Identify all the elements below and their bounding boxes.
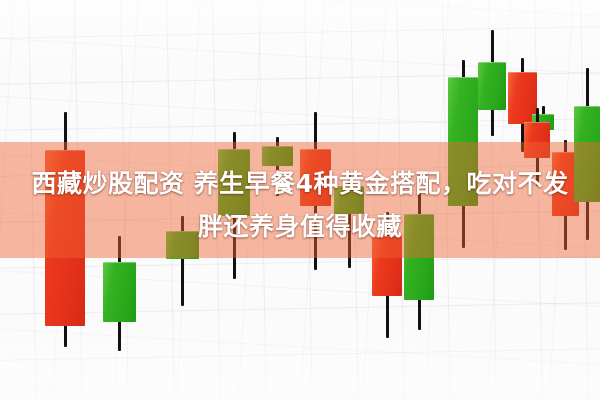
chart-image: 西藏炒股配资 养生早餐4种黄金搭配，吃对不发 胖还养身值得收藏 [0, 0, 600, 400]
candle-body-down [524, 122, 550, 158]
headline-line-2: 胖还养身值得收藏 [0, 206, 600, 248]
candle-body-up [478, 62, 506, 110]
candle-body-up [103, 262, 136, 322]
headline-line-1: 西藏炒股配资 养生早餐4种黄金搭配，吃对不发 [0, 163, 600, 205]
